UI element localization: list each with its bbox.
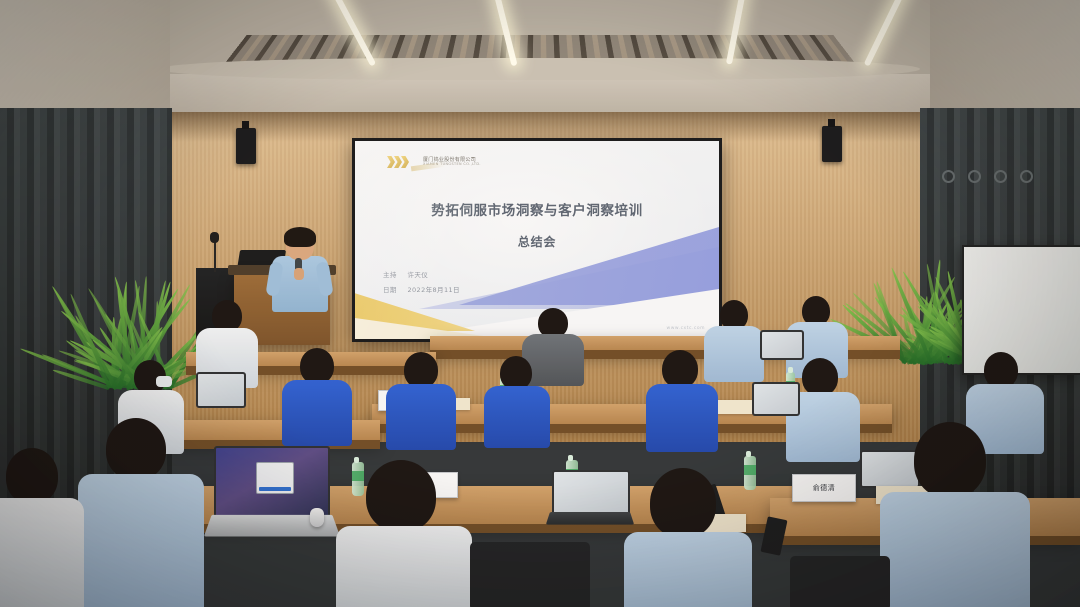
slide-title: 势拓伺服市场洞察与客户洞察培训 [355, 199, 719, 219]
name-placard: 俞德清 [792, 474, 856, 502]
attendee-torso [0, 498, 84, 607]
date-label: 日期 [383, 284, 405, 294]
slide-logo: 厦门钨业股份有限公司 XIAMEN TUNGSTEN CO.,LTD. [387, 155, 481, 169]
attendee-torso [282, 380, 352, 446]
presenter-hand [294, 268, 304, 280]
wall-display-panel [962, 245, 1080, 375]
attendee-head [650, 468, 716, 538]
attendee-torso [386, 384, 456, 450]
paper-document [712, 400, 756, 414]
presenter-hair [284, 227, 316, 247]
microphone-stand [214, 238, 216, 272]
attendee-torso [78, 474, 204, 607]
attendee-head [404, 352, 438, 388]
placard-name: 俞德清 [813, 483, 836, 493]
microphone-icon [210, 232, 219, 243]
dialog-box[interactable] [256, 462, 294, 494]
host-label: 主持 [383, 269, 405, 279]
conference-room-photo: 厦门钨业股份有限公司 XIAMEN TUNGSTEN CO.,LTD. 势拓伺服… [0, 0, 1080, 607]
water-bottle [352, 462, 364, 496]
attendee-head [500, 356, 532, 390]
attendee-torso [336, 526, 472, 607]
wall-speaker [236, 128, 256, 164]
attendee-head [914, 422, 986, 498]
attendee-head [300, 348, 334, 384]
slide-date-line: 日期 2022年8月11日 [383, 284, 460, 294]
attendee-head [6, 448, 58, 504]
wall-speaker [822, 126, 842, 162]
laptop-screen [196, 372, 246, 408]
attendee-head [106, 418, 166, 480]
attendee-head [366, 460, 436, 532]
host-value: 许天仪 [407, 271, 428, 279]
curtain-ring [968, 170, 981, 183]
curtain-ring [994, 170, 1007, 183]
laptop-screen [214, 446, 330, 518]
laptop-screen [760, 330, 804, 360]
dialog-primary-button[interactable] [259, 487, 291, 491]
attendee-head [662, 350, 698, 388]
attendee-torso [704, 326, 764, 382]
laptop-keyboard[interactable] [546, 512, 634, 525]
chair-back [790, 556, 890, 607]
attendee-torso [484, 386, 550, 448]
slide-host-line: 主持 许天仪 [383, 269, 428, 279]
attendee-torso [880, 492, 1030, 607]
chair-back [470, 542, 590, 607]
presentation-slide: 厦门钨业股份有限公司 XIAMEN TUNGSTEN CO.,LTD. 势拓伺服… [355, 141, 719, 339]
laptop-screen [752, 382, 800, 416]
slide-watermark: www.cxtc.com [667, 326, 705, 331]
curtain-ring [1020, 170, 1033, 183]
projection-screen: 厦门钨业股份有限公司 XIAMEN TUNGSTEN CO.,LTD. 势拓伺服… [352, 138, 722, 342]
attendee-torso [624, 532, 752, 607]
attendee-torso [646, 384, 718, 452]
slide-subtitle: 总结会 [355, 233, 719, 250]
laptop-screen [860, 450, 920, 488]
curtain-ring [942, 170, 955, 183]
attendee-head [802, 358, 838, 396]
laptop-screen [552, 470, 630, 516]
face-mask [156, 376, 172, 387]
ceiling-led-strip [864, 0, 911, 67]
water-bottle [744, 456, 756, 490]
computer-mouse[interactable] [310, 508, 324, 527]
attendee-head [984, 352, 1018, 388]
date-value: 2022年8月11日 [407, 286, 459, 294]
